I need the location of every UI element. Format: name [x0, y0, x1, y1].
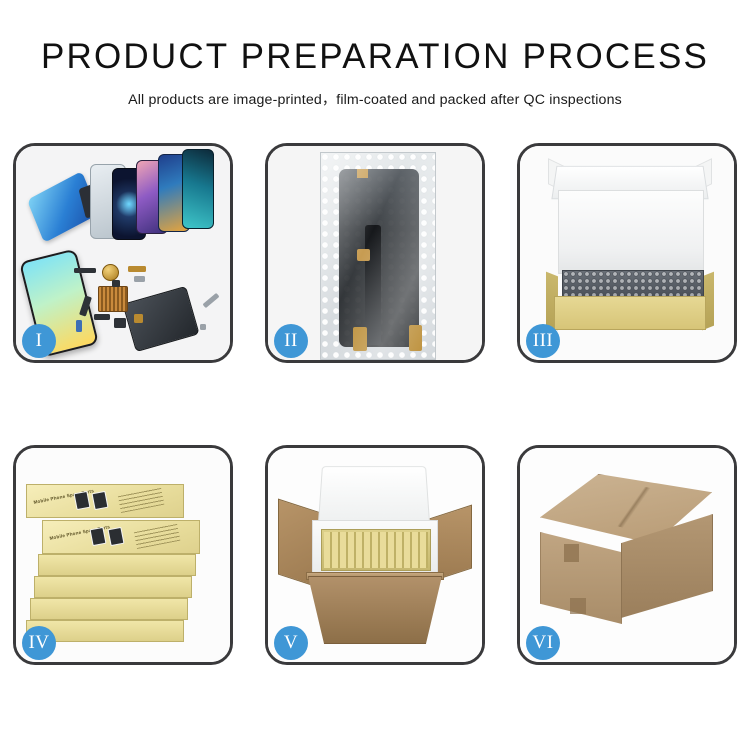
phone-display-teal: [182, 149, 214, 229]
step-badge-1: I: [22, 324, 56, 358]
screen-flex-cable: [365, 225, 381, 345]
process-step-card-4[interactable]: Mobile Phone Spare Parts Mobile Phone Sp…: [13, 445, 233, 665]
process-step-card-2[interactable]: II: [265, 143, 485, 363]
retail-box-stack: Mobile Phone Spare Parts Mobile Phone Sp…: [22, 470, 230, 656]
box-art-phone-4: [92, 491, 109, 510]
process-step-card-6[interactable]: VI: [517, 445, 737, 665]
tape-strip-middle: [357, 249, 370, 261]
box-spec-text-block: [134, 523, 181, 549]
ic-chip-part: [112, 280, 120, 287]
packed-retail-boxes: [321, 529, 431, 571]
page-title: PRODUCT PREPARATION PROCESS: [0, 38, 750, 77]
page-header: PRODUCT PREPARATION PROCESS All products…: [0, 0, 750, 109]
process-step-grid: I II: [13, 143, 737, 665]
white-foam-lining: [558, 190, 704, 274]
process-step-card-3[interactable]: III: [517, 143, 737, 363]
taptic-engine-part: [114, 318, 126, 328]
box-art-phone-3: [74, 491, 91, 510]
box-spec-text-block-top: [118, 487, 165, 513]
logic-board-chip-array: [98, 286, 128, 312]
carton-body: [308, 576, 442, 644]
metal-bracket-part: [134, 276, 145, 282]
retail-box-layer-1: Mobile Phone Spare Parts: [42, 520, 200, 554]
tweezer-tool: [202, 293, 219, 308]
screw-set-part: [134, 314, 143, 323]
connector-left: [353, 327, 367, 351]
box-front-panel: [554, 296, 706, 330]
tape-strip-top: [357, 169, 368, 178]
retail-box-layer-2: [38, 554, 196, 576]
step-badge-3: III: [526, 324, 560, 358]
process-step-card-1[interactable]: I: [13, 143, 233, 363]
styrofoam-lid: [318, 466, 430, 524]
carton-tape-patch-lower: [570, 598, 586, 614]
retail-box-top: Mobile Phone Spare Parts: [26, 484, 184, 518]
styrofoam-case: [312, 520, 438, 578]
retail-box-layer-3: [34, 576, 192, 598]
step-badge-6: VI: [526, 626, 560, 660]
dark-bubble-wrap-layer: [562, 270, 704, 298]
step-badge-5: V: [274, 626, 308, 660]
step-badge-2: II: [274, 324, 308, 358]
step-badge-4: IV: [22, 626, 56, 660]
connector-right: [409, 325, 422, 351]
blue-adhesive-screen: [27, 171, 99, 243]
page-subtitle: All products are image-printed，film-coat…: [0, 89, 750, 109]
box-art-phone-2: [108, 527, 125, 546]
camera-lens-part: [76, 320, 82, 332]
earpiece-mesh-part: [74, 268, 96, 273]
vibration-motor: [102, 264, 119, 281]
retail-box-layer-4: [30, 598, 188, 620]
screw-part: [200, 324, 206, 330]
box-art-phone-1: [90, 527, 107, 546]
retail-box-slots: [324, 532, 428, 568]
flex-connector-part: [128, 266, 146, 272]
bubble-wrap-bag: [320, 152, 436, 360]
speaker-part: [94, 314, 110, 320]
process-step-card-5[interactable]: V: [265, 445, 485, 665]
carton-tape-patch-upper: [564, 544, 579, 562]
